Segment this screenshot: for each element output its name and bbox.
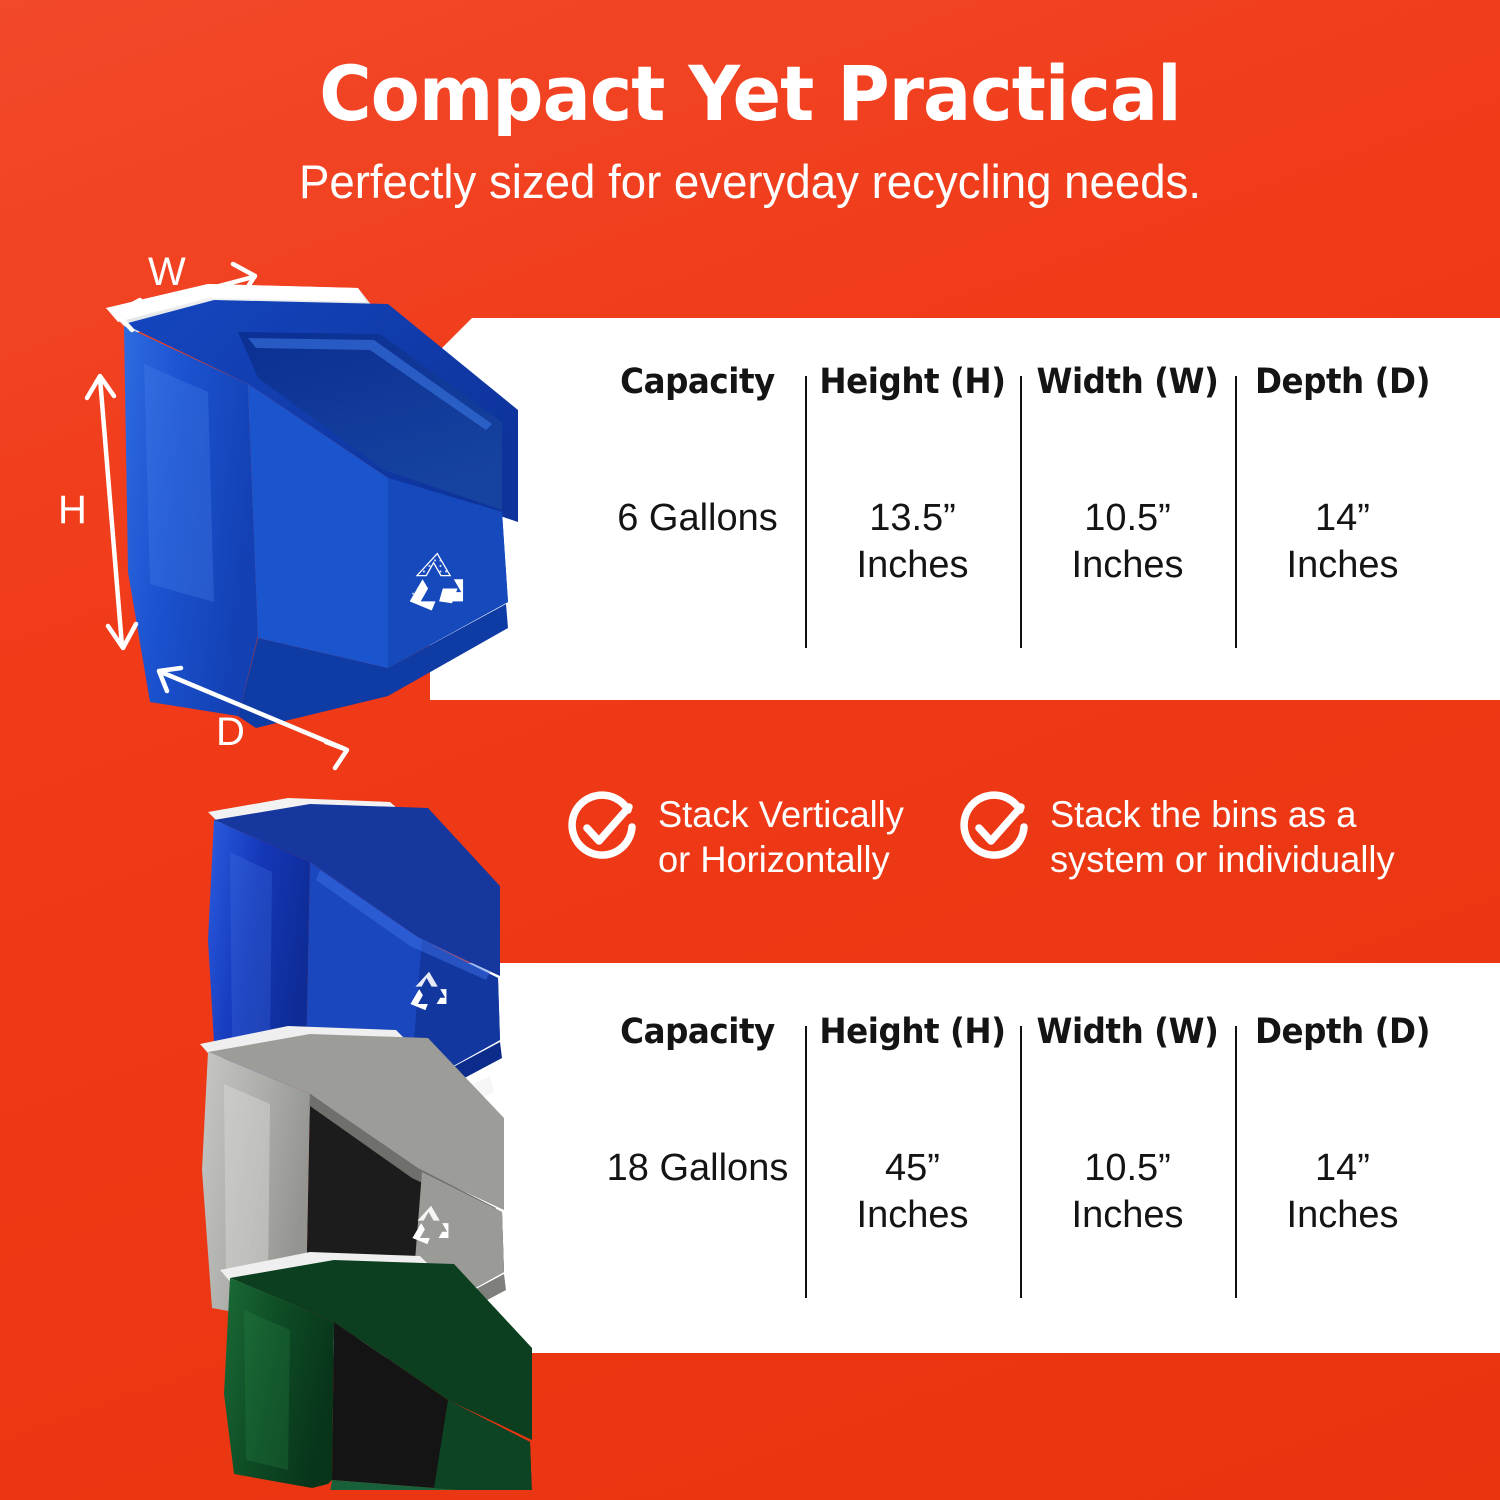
spec-header: Width (W) (1033, 362, 1222, 402)
spec-column-width: Width (W) 10.5” Inches (1020, 362, 1235, 588)
page-subtitle: Perfectly sized for everyday recycling n… (23, 156, 1478, 208)
spec-column-height: Height (H) 45” Inches (805, 1012, 1020, 1238)
header: Compact Yet Practical Perfectly sized fo… (0, 56, 1500, 208)
spec-header: Height (H) (818, 1012, 1007, 1052)
spec-column-width: Width (W) 10.5” Inches (1020, 1012, 1235, 1238)
page-title: Compact Yet Practical (45, 56, 1455, 132)
spec-value: 13.5” Inches (811, 495, 1014, 588)
spec-header: Height (H) (818, 362, 1007, 402)
spec-value: 18 Gallons (596, 1145, 799, 1191)
spec-value: 10.5” Inches (1026, 495, 1229, 588)
spec-column-capacity: Capacity 6 Gallons (590, 362, 805, 588)
spec-header: Depth (D) (1248, 1012, 1437, 1052)
spec-value: 6 Gallons (596, 495, 799, 541)
spec-value: 14” Inches (1241, 1145, 1444, 1238)
spec-column-depth: Depth (D) 14” Inches (1235, 362, 1450, 588)
dimension-label-depth: D (216, 712, 245, 752)
spec-column-depth: Depth (D) 14” Inches (1235, 1012, 1450, 1238)
check-circle-icon (565, 790, 641, 866)
infographic-canvas: Compact Yet Practical Perfectly sized fo… (0, 0, 1500, 1500)
spec-table-single-bin: Capacity 6 Gallons Height (H) 13.5” Inch… (590, 362, 1450, 588)
spec-value: 45” Inches (811, 1145, 1014, 1238)
spec-value: 10.5” Inches (1026, 1145, 1229, 1238)
spec-header: Depth (D) (1248, 362, 1437, 402)
feature-label: Stack the bins as a system or individual… (1050, 788, 1395, 882)
spec-column-capacity: Capacity 18 Gallons (590, 1012, 805, 1238)
feature-item-stack-system: Stack the bins as a system or individual… (957, 788, 1402, 882)
spec-column-height: Height (H) 13.5” Inches (805, 362, 1020, 588)
spec-value: 14” Inches (1241, 495, 1444, 588)
dimension-label-width: W (148, 252, 186, 292)
check-circle-icon (957, 790, 1033, 866)
feature-item-stack-orientation: Stack Vertically or Horizontally (565, 788, 909, 882)
spec-header: Capacity (603, 362, 792, 402)
blue-recycling-bin-image (88, 272, 548, 742)
stacked-recycling-bins-image (160, 790, 580, 1490)
spec-header: Capacity (603, 1012, 792, 1052)
feature-list: Stack Vertically or Horizontally Stack t… (565, 788, 1465, 882)
spec-header: Width (W) (1033, 1012, 1222, 1052)
spec-table-stacked-bins: Capacity 18 Gallons Height (H) 45” Inche… (590, 1012, 1450, 1238)
dimension-label-height: H (58, 490, 87, 530)
feature-label: Stack Vertically or Horizontally (658, 788, 904, 882)
